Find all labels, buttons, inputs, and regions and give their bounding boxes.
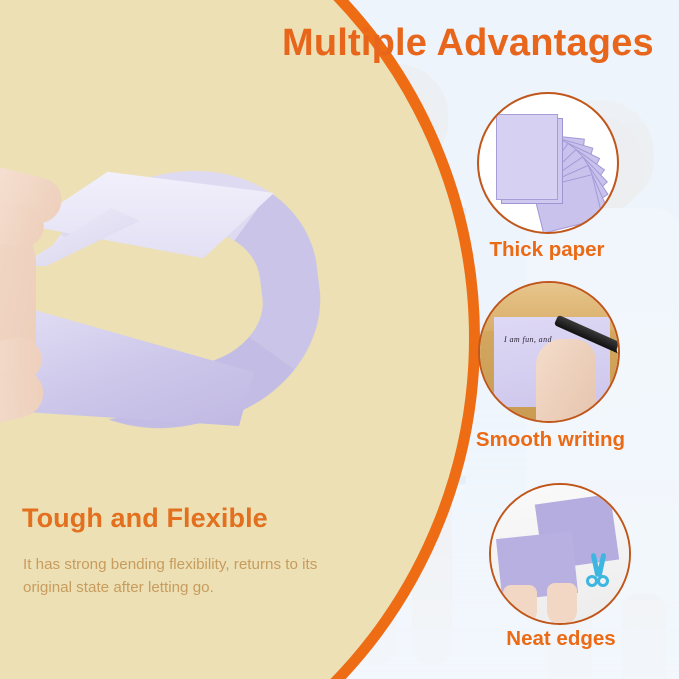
feature-label-neat-edges: Neat edges bbox=[471, 627, 651, 651]
feature-thick-paper: Thick paper bbox=[477, 92, 619, 272]
bent-paper-photo bbox=[0, 160, 346, 440]
left-panel-title: Tough and Flexible bbox=[22, 503, 268, 534]
hand bbox=[0, 160, 94, 440]
hand-left bbox=[503, 585, 537, 625]
finger bbox=[0, 364, 48, 436]
feature-label-thick-paper: Thick paper bbox=[476, 238, 618, 262]
page-title: Multiple Advantages bbox=[282, 22, 654, 65]
left-panel-description: It has strong bending flexibility, retur… bbox=[23, 553, 353, 599]
feature-image-circle: I am fun, and bbox=[478, 281, 620, 423]
writing-hand bbox=[536, 339, 596, 423]
handwriting-text: I am fun, and bbox=[504, 335, 552, 344]
feature-smooth-writing: I am fun, and Smooth writing bbox=[478, 281, 623, 463]
hand-right bbox=[547, 583, 577, 625]
feature-image-circle bbox=[477, 92, 619, 234]
paper-sheet-front bbox=[496, 114, 558, 200]
feature-label-smooth-writing: Smooth writing bbox=[458, 428, 643, 452]
scissors-icon bbox=[587, 553, 609, 593]
feature-image-circle bbox=[489, 483, 631, 625]
product-infographic: Multiple Advantages Tough and Flexible I… bbox=[0, 0, 679, 679]
feature-neat-edges: Neat edges bbox=[489, 483, 631, 661]
